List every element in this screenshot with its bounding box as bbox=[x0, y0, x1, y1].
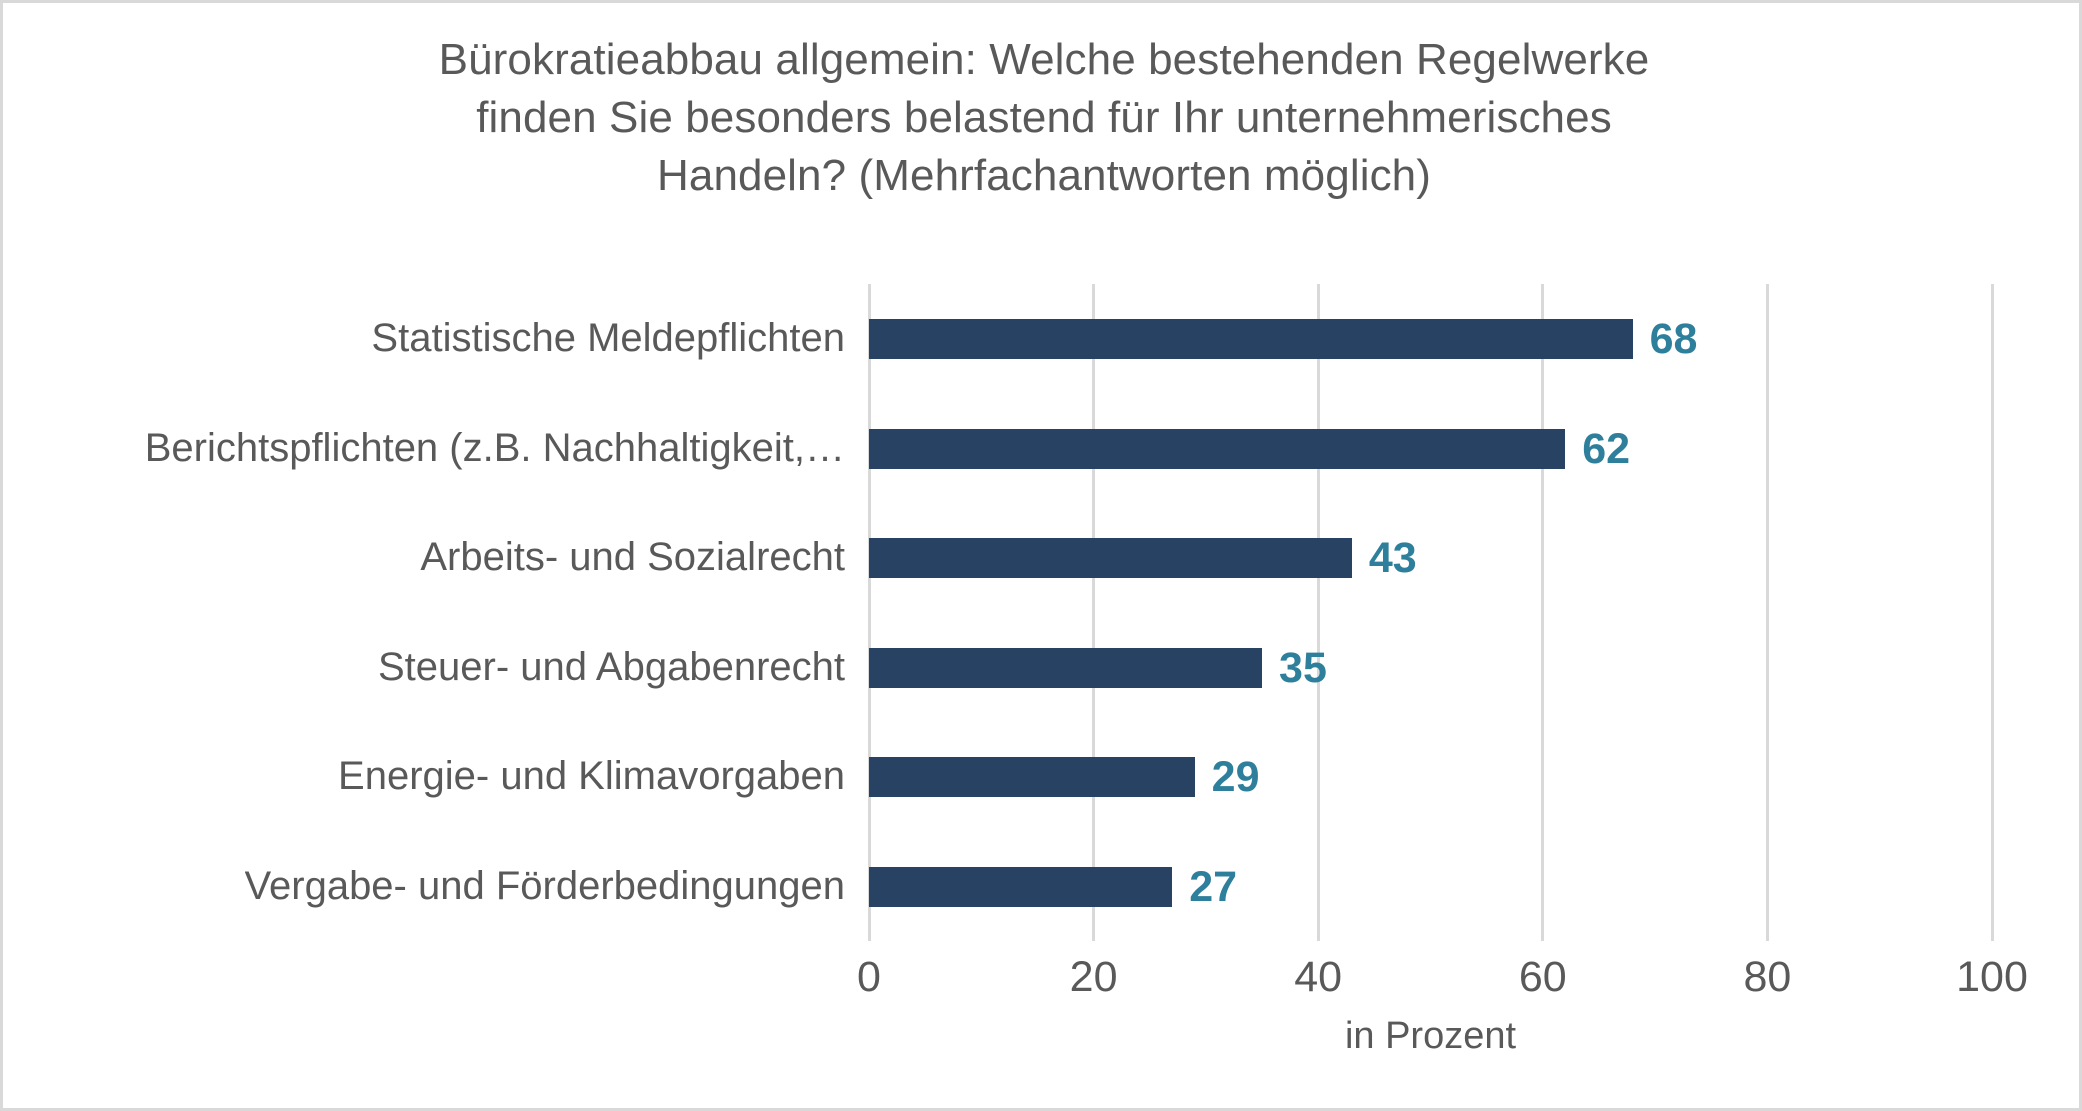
category-label: Berichtspflichten (z.B. Nachhaltigkeit,… bbox=[145, 394, 845, 504]
bar-row: 43 bbox=[869, 503, 1992, 613]
category-label: Vergabe- und Förderbedingungen bbox=[245, 832, 845, 942]
bar-value-label: 62 bbox=[1582, 422, 1630, 476]
bar-value-label: 27 bbox=[1189, 860, 1237, 914]
bar[interactable] bbox=[869, 319, 1633, 359]
plot-area: 686243352927 bbox=[869, 284, 1992, 941]
bar-value-label: 68 bbox=[1650, 312, 1698, 366]
x-tick-label: 20 bbox=[1070, 949, 1118, 1005]
category-label: Arbeits- und Sozialrecht bbox=[420, 503, 845, 613]
bar[interactable] bbox=[869, 757, 1195, 797]
bar[interactable] bbox=[869, 867, 1172, 907]
bar-value-label: 35 bbox=[1279, 641, 1327, 695]
bar-row: 62 bbox=[869, 394, 1992, 504]
category-axis: Statistische MeldepflichtenBerichtspflic… bbox=[3, 284, 859, 941]
bar[interactable] bbox=[869, 429, 1565, 469]
category-label: Steuer- und Abgabenrecht bbox=[378, 613, 845, 723]
x-tick-label: 0 bbox=[857, 949, 881, 1005]
bar-row: 68 bbox=[869, 284, 1992, 394]
bar-row: 27 bbox=[869, 832, 1992, 942]
bar-row: 35 bbox=[869, 613, 1992, 723]
category-label: Statistische Meldepflichten bbox=[371, 284, 845, 394]
bar-row: 29 bbox=[869, 722, 1992, 832]
bar[interactable] bbox=[869, 648, 1262, 688]
x-tick-label: 80 bbox=[1743, 949, 1791, 1005]
x-tick-label: 40 bbox=[1294, 949, 1342, 1005]
category-label: Energie- und Klimavorgaben bbox=[338, 722, 845, 832]
bar-value-label: 29 bbox=[1212, 750, 1260, 804]
bar-value-label: 43 bbox=[1369, 531, 1417, 585]
chart-canvas: Bürokratieabbau allgemein: Welche besteh… bbox=[0, 0, 2082, 1111]
x-tick-label: 100 bbox=[1956, 949, 2028, 1005]
x-tick-label: 60 bbox=[1519, 949, 1567, 1005]
x-axis-title: in Prozent bbox=[869, 1011, 1992, 1061]
chart-title: Bürokratieabbau allgemein: Welche besteh… bbox=[3, 31, 2082, 205]
bar[interactable] bbox=[869, 538, 1352, 578]
x-axis-tick-labels: 020406080100 bbox=[869, 949, 1992, 1009]
